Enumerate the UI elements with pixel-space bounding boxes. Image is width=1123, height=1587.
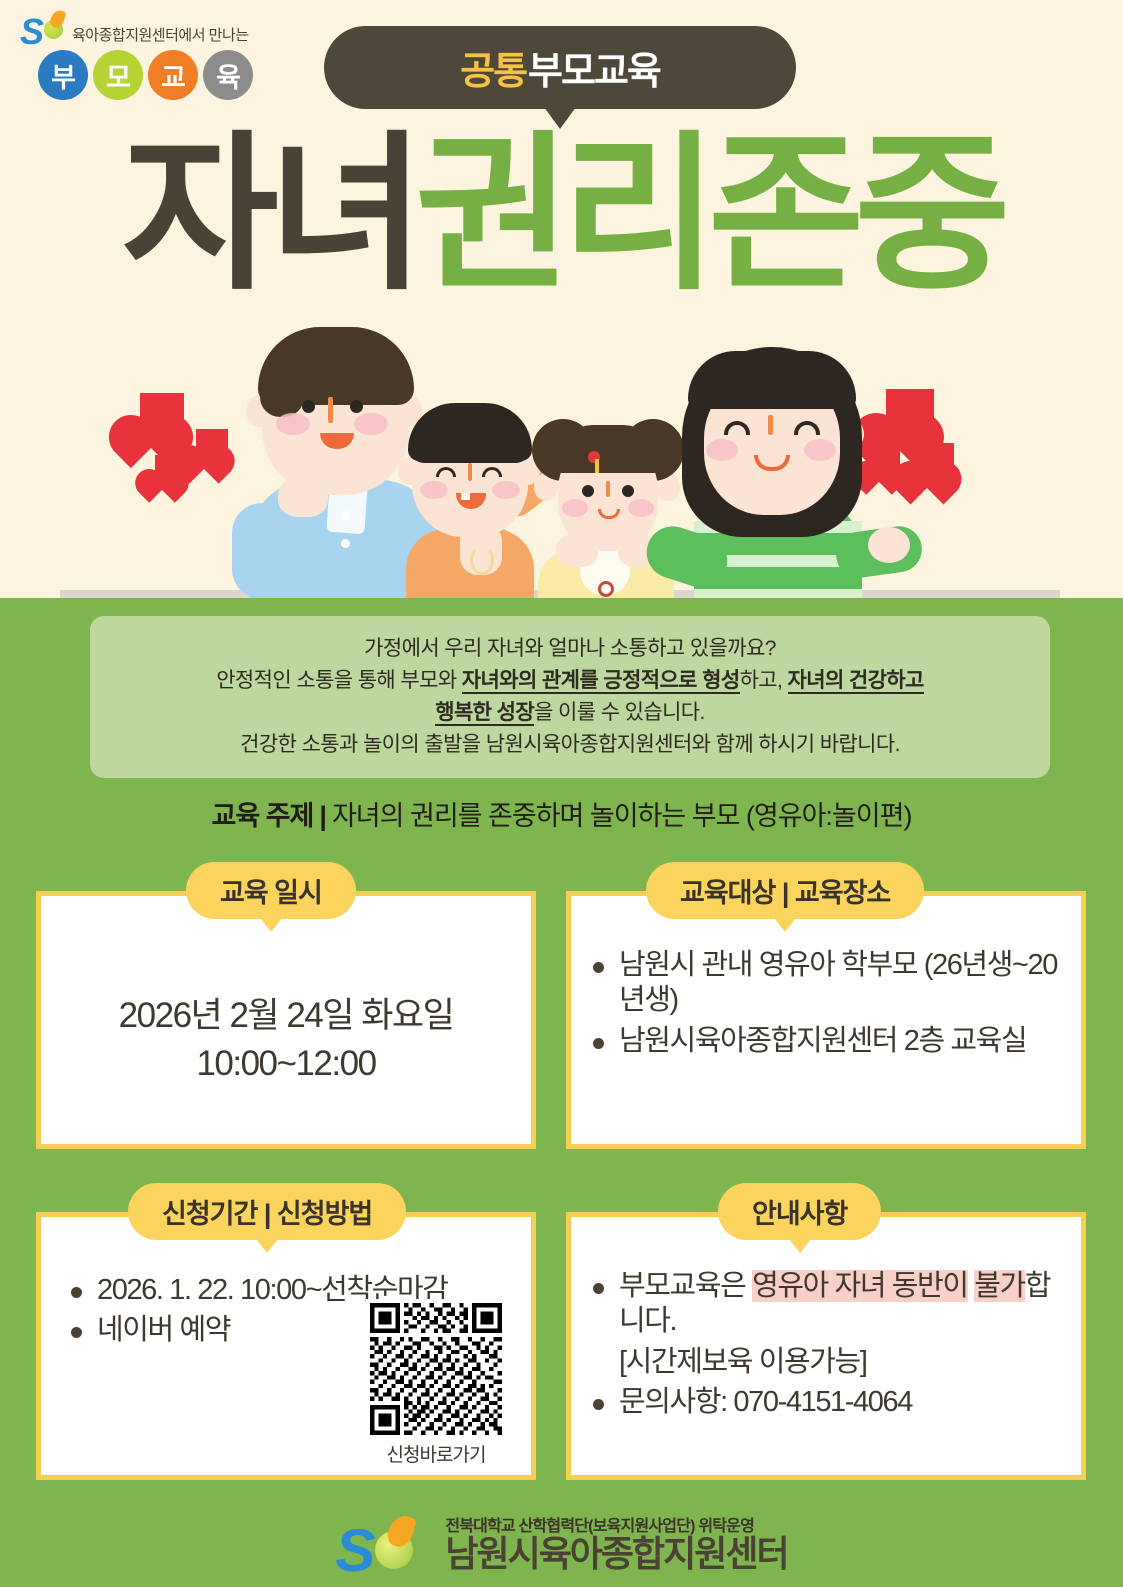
heart-icon (196, 429, 228, 461)
heart-icon (155, 455, 183, 483)
topic-value: 자녀의 권리를 존중하며 놀이하는 부모 (영유아:놀이편) (332, 801, 911, 831)
card-schedule: 2026년 2월 24일 화요일 10:00~12:00 (36, 891, 536, 1149)
pill-tail-icon (260, 918, 282, 932)
intro-l2-c: 하고, (740, 669, 788, 692)
schedule-date: 2026년 2월 24일 화요일 (119, 987, 454, 1038)
schedule-pill-label: 교육 일시 (186, 862, 356, 919)
card-apply: 2026. 1. 22. 10:00~선착순마감 네이버 예약 (36, 1212, 536, 1480)
brand-circle-4: 육 (203, 50, 253, 100)
pill-tail-icon (256, 1239, 278, 1253)
family-illustration (0, 325, 1123, 598)
brand-circle-3: 교 (148, 50, 198, 100)
intro-l2-a: 안정적인 소통을 통해 부모와 (216, 669, 462, 692)
intro-line-2: 안정적인 소통을 통해 부모와 자녀와의 관계를 긍정적으로 형성하고, 자녀의… (216, 668, 924, 694)
list-item: [시간제보육 이용가능] (589, 1345, 1065, 1380)
green-section: 가정에서 우리 자녀와 얼마나 소통하고 있을까요? 안정적인 소통을 통해 부… (0, 598, 1123, 1587)
brand-circle-group: 부 모 교 육 (38, 50, 278, 100)
audience-pill-label: 교육대상 | 교육장소 (646, 862, 924, 919)
title-part-green: 권리존중 (415, 120, 1001, 310)
notice-text-a: 부모교육은 (619, 1270, 752, 1302)
topic-label: 교육 주제 (212, 801, 314, 831)
schedule-time: 10:00~12:00 (196, 1044, 375, 1084)
intro-line-1: 가정에서 우리 자녀와 얼마나 소통하고 있을까요? (364, 636, 776, 662)
card-audience: 남원시 관내 영유아 학부모 (26년생~20년생) 남원시육아종합지원센터 2… (566, 891, 1086, 1149)
card-notice-title: 안내사항 (718, 1183, 881, 1240)
brand-circle-2: 모 (93, 50, 143, 100)
card-schedule-title: 교육 일시 (186, 862, 356, 919)
top-section: S 육아종합지원센터에서 만나는 부 모 교 육 공통 부모교육 (0, 0, 1123, 598)
topic-separator: | (319, 801, 326, 831)
footer-org-name: 남원시육아종합지원센터 (445, 1535, 787, 1574)
education-topic: 교육 주제|자녀의 권리를 존중하며 놀이하는 부모 (영유아:놀이편) (0, 794, 1123, 833)
qr-block[interactable]: 신청바로가기 (357, 1299, 515, 1467)
notice-highlight-2: 불가 (974, 1270, 1025, 1302)
intro-line-3: 행복한 성장을 이룰 수 있습니다. (435, 700, 705, 726)
notice-pill-label: 안내사항 (718, 1183, 881, 1240)
list-item: 남원시육아종합지원센터 2층 교육실 (589, 1024, 1065, 1059)
notice-list: 부모교육은 영유아 자녀 동반이 불가합니다. [시간제보육 이용가능] 문의사… (579, 1269, 1069, 1421)
notice-highlight-1: 영유아 자녀 동반이 (752, 1270, 968, 1302)
card-notice: 부모교육은 영유아 자녀 동반이 불가합니다. [시간제보육 이용가능] 문의사… (566, 1212, 1086, 1480)
banner-badge: 공통 부모교육 (324, 26, 796, 109)
poster-root: S 육아종합지원센터에서 만나는 부 모 교 육 공통 부모교육 (0, 0, 1123, 1587)
list-item: 문의사항: 070-4151-4064 (589, 1385, 1065, 1420)
card-apply-title: 신청기간 | 신청방법 (128, 1183, 406, 1240)
page-title: 자녀권리존중 (0, 130, 1123, 300)
banner-gold-text: 공통 (460, 40, 526, 95)
banner-white-text: 부모교육 (528, 40, 660, 95)
qr-caption: 신청바로가기 (357, 1440, 515, 1467)
intro-line-4: 건강한 소통과 놀이의 출발을 남원시육아종합지원센터와 함께 하시기 바랍니다… (240, 732, 900, 758)
list-item: 남원시 관내 영유아 학부모 (26년생~20년생) (589, 948, 1065, 1019)
heart-icon (918, 443, 954, 479)
audience-list: 남원시 관내 영유아 학부모 (26년생~20년생) 남원시육아종합지원센터 2… (579, 948, 1069, 1059)
heart-icon (140, 393, 184, 437)
intro-l3-a: 행복한 성장 (435, 701, 534, 726)
intro-l2-b: 자녀와의 관계를 긍정적으로 형성 (462, 669, 740, 694)
qr-code-icon[interactable] (360, 1299, 512, 1439)
intro-l3-b: 을 이룰 수 있습니다. (534, 701, 705, 724)
list-item: 부모교육은 영유아 자녀 동반이 불가합니다. (589, 1269, 1065, 1340)
character-son (398, 397, 548, 598)
sc-logo-mark-icon: S (18, 8, 68, 48)
brand-circle-1: 부 (38, 50, 88, 100)
apply-pill-label: 신청기간 | 신청방법 (128, 1183, 406, 1240)
brand-tagline: 육아종합지원센터에서 만나는 (72, 24, 249, 45)
footer: S 전북대학교 산학협력단(보육지원사업단) 위탁운영 남원시육아종합지원센터 (0, 1513, 1123, 1579)
card-audience-title: 교육대상 | 교육장소 (646, 862, 924, 919)
sc-logo-mark-icon: S (335, 1513, 431, 1579)
intro-box: 가정에서 우리 자녀와 얼마나 소통하고 있을까요? 안정적인 소통을 통해 부… (90, 616, 1050, 778)
pill-tail-icon (774, 918, 796, 932)
pill-tail-icon (789, 1239, 811, 1253)
intro-l2-d: 자녀의 건강하고 (788, 669, 924, 694)
title-part-brown: 자녀 (122, 120, 415, 310)
character-mother (650, 343, 900, 598)
brand-logo: S 육아종합지원센터에서 만나는 부 모 교 육 (18, 8, 278, 100)
